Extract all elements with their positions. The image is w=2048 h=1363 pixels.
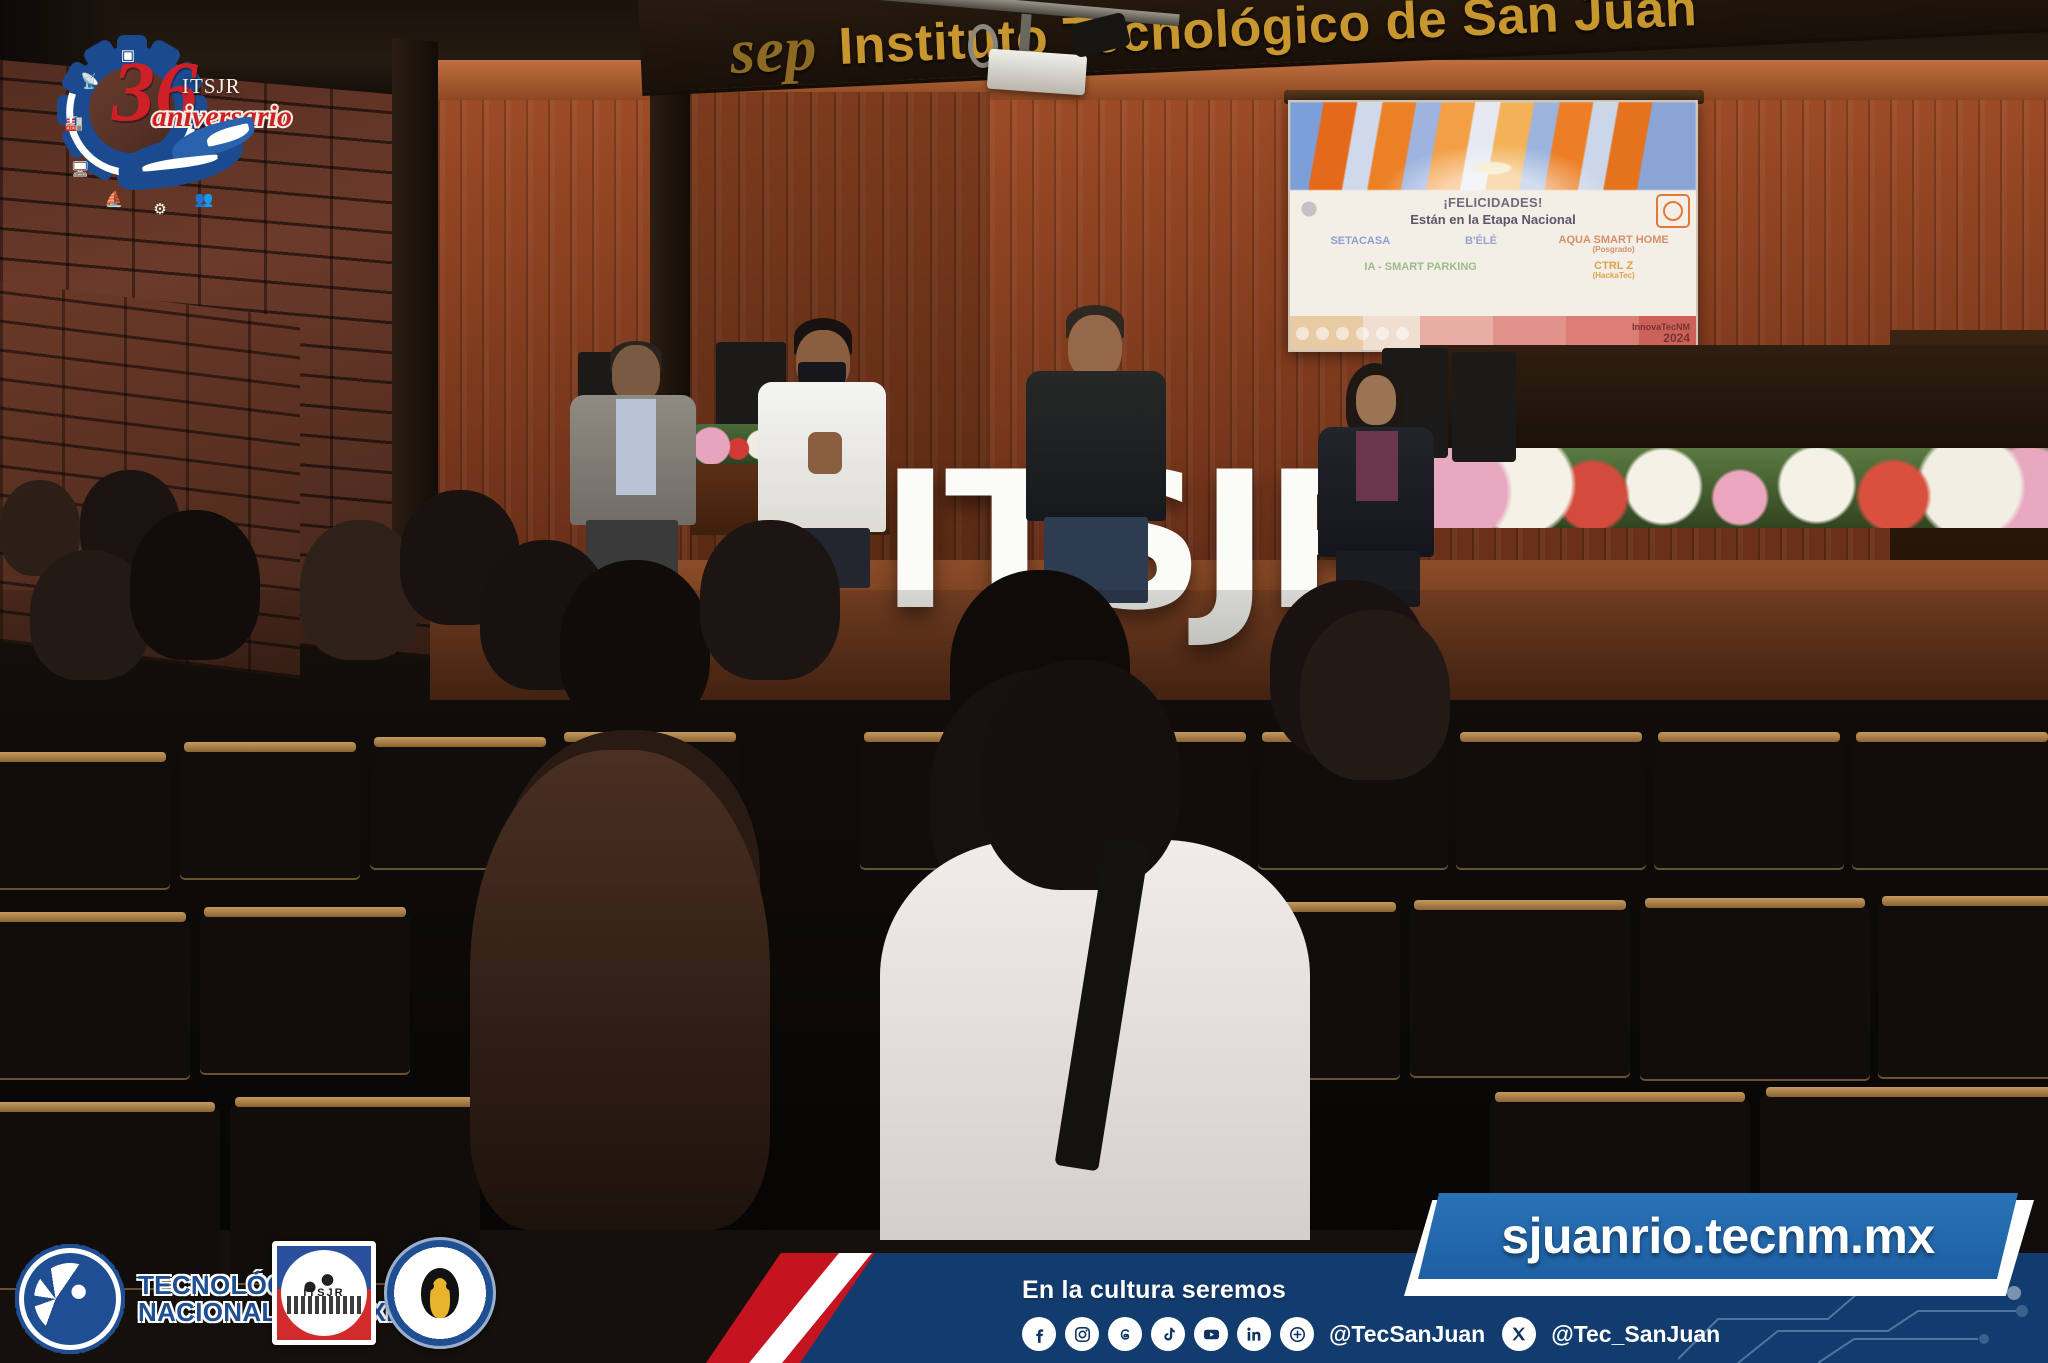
facebook-icon[interactable] (1022, 1317, 1056, 1351)
tiktok-icon[interactable] (1151, 1317, 1185, 1351)
instagram-icon[interactable] (1065, 1317, 1099, 1351)
anniversary-institute: ITSJR (182, 74, 241, 99)
website-tab-fill: sjuanrio.tecnm.mx (1418, 1193, 2018, 1279)
aztec-head-icon (34, 1263, 106, 1335)
satellite-icon: 📡 (78, 70, 102, 92)
auditorium-seat (0, 920, 190, 1080)
blouse (1356, 431, 1398, 501)
slide-logo-left-icon (1296, 196, 1322, 222)
slide-footer-brand: InnovaTecNM 2024 (1632, 323, 1690, 344)
presentation-slide: ¡FELICIDADES! Están en la Etapa Nacional… (1290, 102, 1696, 350)
social-handle-primary[interactable]: @TecSanJuan (1329, 1321, 1485, 1348)
slide-team-grid: SETACASA B'ÉLÉ AQUA SMART HOME (Posgrado… (1300, 235, 1686, 281)
auditorium-seat (1878, 904, 2048, 1079)
auditorium-seat (1456, 740, 1646, 870)
audience-head (700, 520, 840, 680)
itsjr-shield-disc: ITSJR (281, 1250, 367, 1336)
projector (987, 49, 1088, 96)
itsjr-shield-inner: ITSJR (277, 1246, 371, 1340)
slide-title: ¡FELICIDADES! (1300, 196, 1686, 211)
slide-team-3: AQUA SMART HOME (Posgrado) (1541, 235, 1686, 255)
audience-area (0, 590, 2048, 1230)
speaker-black-polo (1020, 305, 1170, 555)
slide-team-1: SETACASA (1300, 235, 1421, 247)
threads-icon[interactable] (1108, 1317, 1142, 1351)
audience-head (560, 560, 710, 730)
slide-footer-brand-name: InnovaTecNM (1632, 322, 1690, 332)
slide-body: ¡FELICIDADES! Están en la Etapa Nacional… (1290, 190, 1696, 316)
head (1356, 375, 1396, 425)
audience-head (130, 510, 260, 660)
sep-logo: sep (728, 11, 818, 89)
slide-artwork-banner (1290, 102, 1696, 190)
slide-footer-icon-6 (1396, 327, 1409, 340)
audience-head (1300, 610, 1450, 780)
footer-tagline: En la cultura seremos (1022, 1276, 1286, 1305)
monitor-icon: 🖥 (68, 158, 92, 180)
people-icon: 👥 (192, 188, 216, 210)
slide-team-4: IA - SMART PARKING (1300, 261, 1541, 273)
x-twitter-icon[interactable] (1502, 1317, 1536, 1351)
stage-chair (1452, 352, 1516, 462)
auditorium-seat (1852, 740, 2048, 870)
slide-footer-icon-1 (1296, 327, 1309, 340)
telegram-icon[interactable] (1280, 1317, 1314, 1351)
auditorium-seat (180, 750, 360, 880)
clapping-hands (808, 432, 842, 474)
itsjr-badge-letters: ITSJR (303, 1287, 344, 1299)
itsjr-shield-badge: ITSJR (272, 1241, 376, 1345)
auditorium-seat (1410, 908, 1630, 1078)
speaker-woman-right (1310, 365, 1440, 585)
speaker-grey-suit (560, 345, 700, 545)
anniversary-logo: ▣ 📡 🏭 🖥 ⛵ ⚙ 👥 36 ITSJR aniversario (40, 22, 250, 182)
torso (1026, 371, 1166, 521)
tecnm-logo: TECNOLÓGICO NACIONAL DE MÉXICO® (18, 1247, 444, 1351)
linkedin-icon[interactable] (1237, 1317, 1271, 1351)
speaker-white-shirt-masked (750, 320, 890, 550)
social-handle-x[interactable]: @Tec_SanJuan (1551, 1321, 1720, 1348)
auditorium-seat (1640, 906, 1870, 1081)
auditorium-seat (0, 760, 170, 890)
social-links: @TecSanJuan @Tec_SanJuan (1022, 1317, 1720, 1351)
event-photograph: sep Instituto Tecnológico de San Juan ¡F… (0, 0, 2048, 1363)
slide-team-5-note: (HackaTec) (1541, 272, 1686, 280)
tecnm-gear-icon (18, 1247, 122, 1351)
auditorium-seat (1654, 740, 1844, 870)
itsjr-eagle-badge (384, 1237, 496, 1349)
slide-team-3-name: AQUA SMART HOME (1559, 234, 1669, 246)
slide-footer-icon-5 (1376, 327, 1389, 340)
projection-screen: ¡FELICIDADES! Están en la Etapa Nacional… (1288, 100, 1698, 352)
eagle-emblem-icon (118, 122, 256, 190)
screenshot-root: sep Instituto Tecnológico de San Juan ¡F… (0, 0, 2048, 1363)
shirt (616, 399, 656, 495)
slide-footer-icons (1296, 327, 1409, 340)
website-url[interactable]: sjuanrio.tecnm.mx (1501, 1207, 1934, 1265)
ship-icon: ⛵ (102, 188, 126, 210)
website-tab[interactable]: sjuanrio.tecnm.mx (1404, 1200, 2034, 1296)
audience-head (980, 660, 1180, 890)
slide-logo-right-icon (1656, 194, 1690, 228)
slide-footer-icon-4 (1356, 327, 1369, 340)
slide-footer-icon-2 (1316, 327, 1329, 340)
slide-footer-year: 2024 (1632, 332, 1690, 344)
slide-team-5-name: CTRL Z (1594, 260, 1633, 272)
wall-column-a (392, 38, 438, 561)
head (1068, 315, 1122, 379)
audience-head-foreground (470, 750, 770, 1230)
slide-subtitle: Están en la Etapa Nacional (1300, 212, 1686, 227)
youtube-icon[interactable] (1194, 1317, 1228, 1351)
auditorium-seat (200, 915, 410, 1075)
slide-team-5: CTRL Z (HackaTec) (1541, 261, 1686, 281)
slide-team-2: B'ÉLÉ (1421, 235, 1542, 247)
eagle-head-icon (409, 1262, 471, 1324)
slide-footer-icon-3 (1336, 327, 1349, 340)
factory-icon: 🏭 (62, 112, 86, 134)
gears-icon: ⚙ (148, 198, 172, 220)
slide-team-3-note: (Posgrado) (1541, 246, 1686, 254)
